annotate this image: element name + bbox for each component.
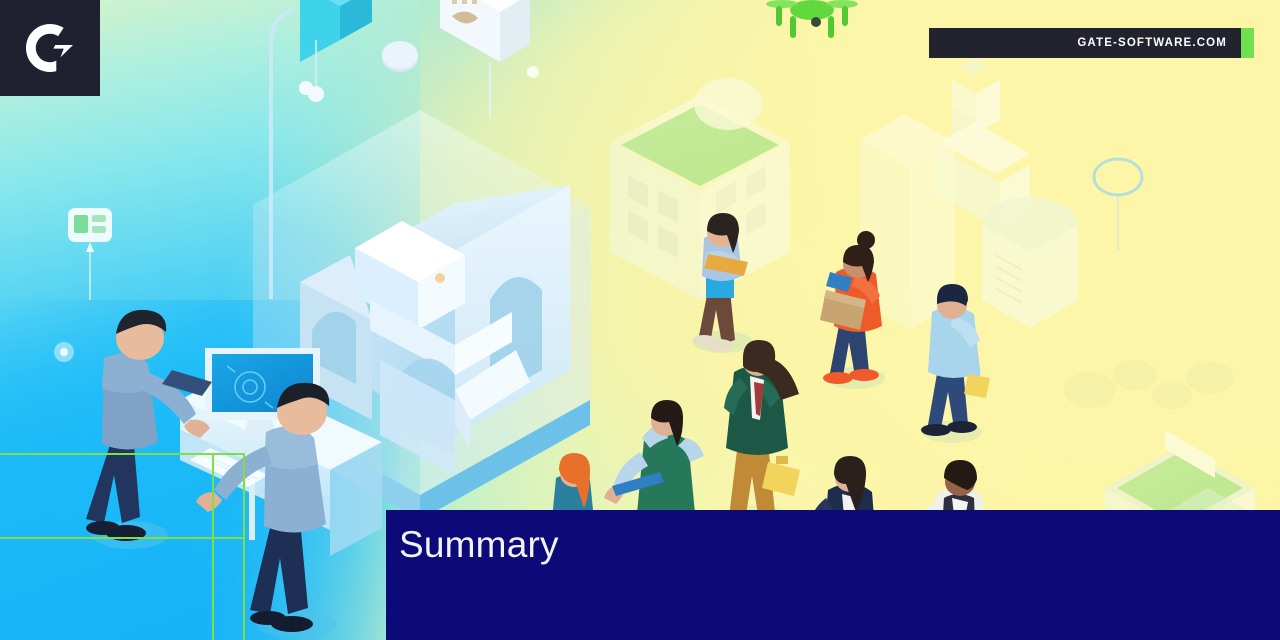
website-url-badge: GATE-SOFTWARE.COM	[929, 28, 1254, 58]
url-badge-accent	[1241, 28, 1254, 58]
url-badge-text: GATE-SOFTWARE.COM	[1077, 37, 1227, 49]
url-badge-bar: GATE-SOFTWARE.COM	[929, 28, 1241, 58]
gate-software-logo[interactable]	[0, 0, 100, 96]
page-title: Summary	[399, 524, 559, 566]
logo-g-bolt-icon	[22, 20, 78, 76]
slide-canvas: GATE-SOFTWARE.COM Summary	[0, 0, 1280, 640]
